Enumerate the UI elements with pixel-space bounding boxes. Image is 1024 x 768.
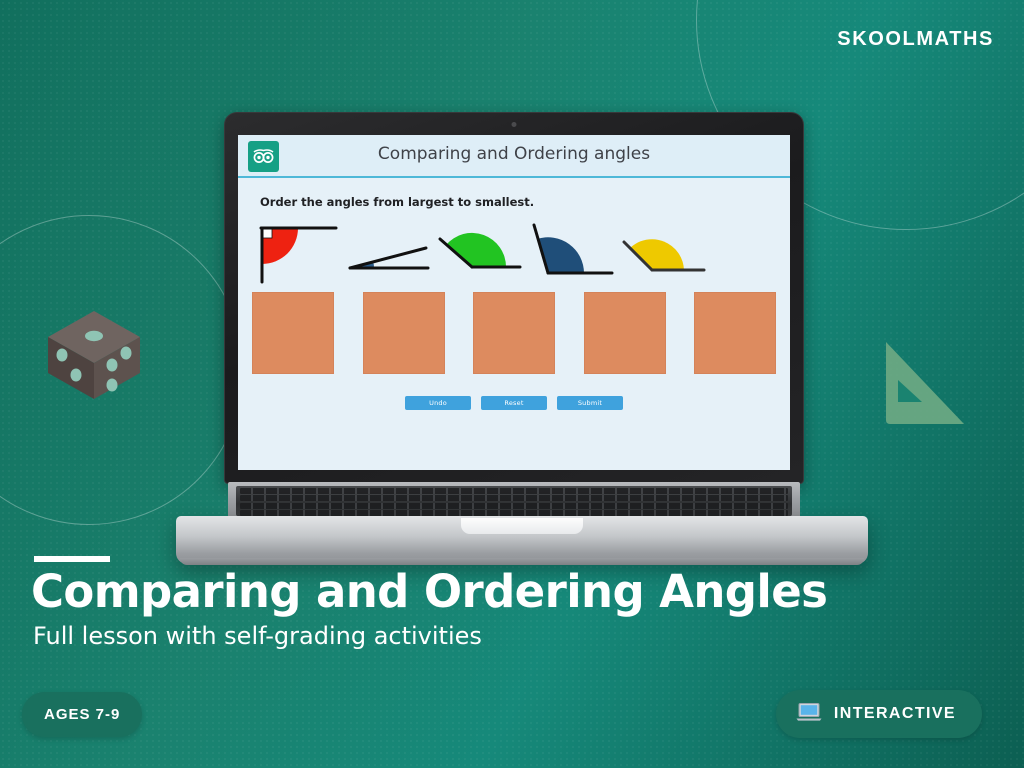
app-header: Comparing and Ordering angles — [238, 135, 790, 178]
laptop-keyboard — [236, 486, 792, 516]
drop-box[interactable] — [473, 292, 555, 374]
laptop-base-edge — [180, 558, 864, 565]
page-title: Comparing and Ordering Angles — [31, 565, 827, 618]
laptop-lid: Comparing and Ordering angles Order the … — [224, 112, 804, 484]
app-title: Comparing and Ordering angles — [238, 144, 790, 164]
drop-box[interactable] — [694, 292, 776, 374]
angle-figures-row — [238, 218, 790, 286]
angle-figure-acute-small[interactable] — [344, 234, 436, 291]
page-subtitle: Full lesson with self-grading activities — [33, 622, 482, 650]
set-square-icon — [876, 336, 972, 430]
ages-badge[interactable]: AGES 7-9 — [22, 692, 142, 737]
drop-boxes-row — [238, 292, 790, 374]
submit-button[interactable]: Submit — [557, 396, 623, 410]
laptop-device: Comparing and Ordering angles Order the … — [176, 112, 868, 552]
laptop-screen: Comparing and Ordering angles Order the … — [238, 135, 790, 470]
laptop-icon — [796, 702, 822, 727]
instruction-text: Order the angles from largest to smalles… — [260, 195, 790, 209]
angle-figure-obtuse-green[interactable] — [436, 227, 528, 288]
drop-box[interactable] — [584, 292, 666, 374]
undo-button[interactable]: Undo — [405, 396, 471, 410]
webcam-icon — [512, 122, 517, 127]
app-action-buttons: Undo Reset Submit — [238, 396, 790, 410]
drop-box[interactable] — [252, 292, 334, 374]
ages-badge-label: AGES 7-9 — [44, 706, 120, 723]
angle-figure-obtuse-yellow[interactable] — [620, 228, 712, 289]
reset-button[interactable]: Reset — [481, 396, 547, 410]
drop-box[interactable] — [363, 292, 445, 374]
brand-logo-text: SKOOLMATHS — [837, 28, 994, 51]
title-accent-bar — [34, 556, 110, 562]
laptop-trackpad-notch — [461, 518, 583, 534]
interactive-badge[interactable]: INTERACTIVE — [776, 690, 982, 738]
interactive-badge-label: INTERACTIVE — [834, 705, 956, 723]
angle-figure-obtuse-navy[interactable] — [528, 221, 620, 288]
angle-figure-right-angle[interactable] — [252, 218, 344, 291]
dice-icon — [42, 305, 146, 405]
right-angle-marker-icon — [263, 229, 272, 238]
